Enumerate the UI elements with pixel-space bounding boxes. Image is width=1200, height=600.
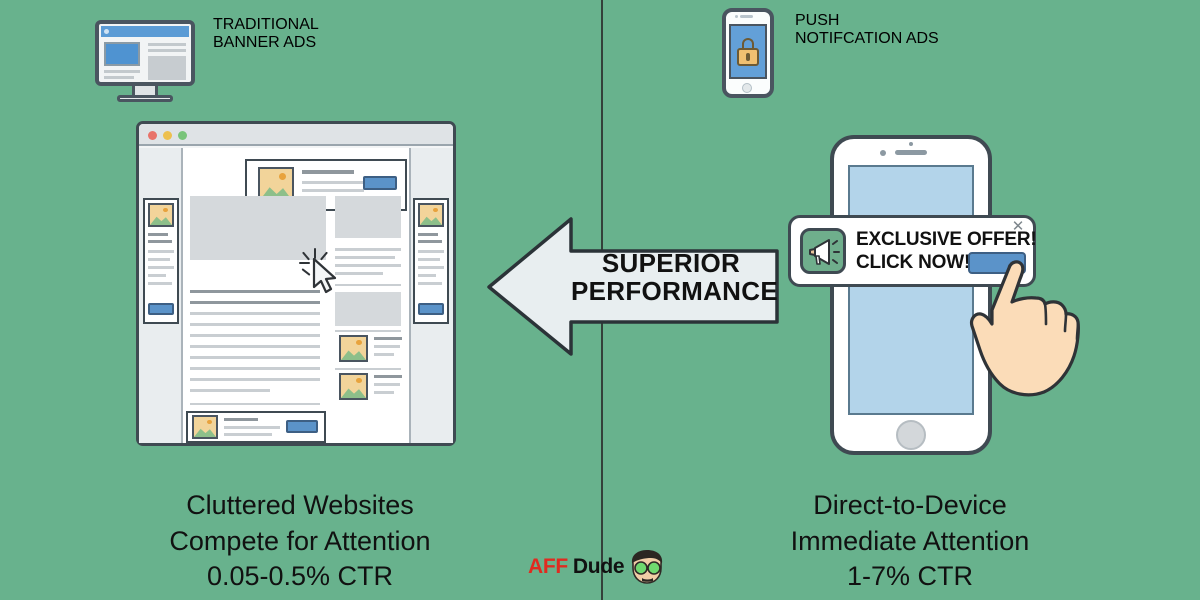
ad-text-line: [374, 375, 402, 378]
mouse-cursor-icon: [303, 248, 337, 288]
right-caption-line-2: Immediate Attention: [700, 524, 1120, 560]
left-caption-line-2: Compete for Attention: [90, 524, 510, 560]
left-caption-line-1: Cluttered Websites: [90, 488, 510, 524]
left-title-line-2: BANNER ADS: [213, 34, 543, 52]
phone-camera: [880, 150, 886, 156]
ad-text-line: [148, 282, 172, 285]
monitor-text-line: [104, 70, 140, 73]
ad-text-line: [148, 266, 174, 269]
phone-icon-home-button: [742, 83, 752, 93]
phone-icon-camera: [735, 15, 738, 18]
right-caption-line-1: Direct-to-Device: [700, 488, 1120, 524]
superior-performance-arrow: SUPERIOR PERFORMANCE: [487, 217, 779, 356]
ad-text-line: [148, 258, 170, 261]
ad-text-line: [302, 189, 364, 192]
article-text-line: [190, 312, 320, 315]
article-text-line: [190, 367, 320, 370]
monitor-text-line: [148, 43, 186, 46]
ad-text-line: [224, 433, 272, 436]
ad-text-line: [224, 426, 280, 429]
content-text-line: [335, 248, 401, 251]
browser-maximize-dot-icon[interactable]: [178, 131, 187, 140]
content-image-block: [335, 196, 401, 238]
notification-subtext: CLICK NOW!: [856, 252, 970, 274]
browser-close-dot-icon[interactable]: [148, 131, 157, 140]
article-text-line: [190, 323, 320, 326]
megaphone-icon: [800, 228, 846, 274]
ad-text-line: [418, 250, 444, 253]
ad-headline-line: [224, 418, 258, 421]
ad-text-line: [374, 337, 402, 340]
monitor-image-block: [104, 42, 140, 66]
arrow-label-line-1: SUPERIOR: [571, 249, 771, 277]
ad-text-line: [302, 181, 372, 184]
ad-text-line: [148, 240, 172, 243]
ad-thumbnail-icon: [192, 415, 218, 439]
left-title-line-1: TRADITIONAL: [213, 16, 543, 34]
avatar: [628, 550, 666, 584]
ad-text-line: [418, 266, 444, 269]
ad-thumbnail-icon: [418, 203, 444, 227]
ad-cta-button[interactable]: [418, 303, 444, 315]
monitor-gray-block: [148, 56, 186, 80]
phone-home-button[interactable]: [896, 420, 926, 450]
arrow-label-line-2: PERFORMANCE: [571, 277, 771, 305]
monitor-text-line: [104, 76, 134, 79]
article-text-line: [190, 334, 320, 337]
ad-cta-button[interactable]: [148, 303, 174, 315]
arrow-label: SUPERIOR PERFORMANCE: [571, 249, 771, 305]
monitor-browser-bar: [101, 26, 189, 37]
article-text-line: [190, 356, 320, 359]
ad-text-line: [148, 274, 166, 277]
lock-icon-keyhole: [746, 53, 750, 61]
affdude-logo[interactable]: AFF Dude: [528, 549, 666, 585]
content-divider-line: [335, 368, 401, 370]
monitor-stand-base: [117, 95, 173, 102]
ad-cta-button[interactable]: [286, 420, 318, 433]
left-caption-ctr: 0.05-0.5% CTR: [90, 559, 510, 595]
monitor-text-line: [148, 49, 186, 52]
monitor-browser-dot-icon: [104, 29, 109, 34]
ad-text-line: [418, 233, 438, 236]
ad-text-line: [418, 240, 442, 243]
browser-minimize-dot-icon[interactable]: [163, 131, 172, 140]
right-title-line-1: PUSH: [795, 12, 1155, 30]
article-text-line: [190, 301, 320, 304]
logo-text-aff: AFF: [528, 555, 568, 579]
ad-text-line: [374, 383, 400, 386]
ad-text-line: [418, 274, 436, 277]
phone-speaker: [895, 150, 927, 155]
article-text-line: [190, 345, 320, 348]
right-title-line-2: NOTIFCATION ADS: [795, 30, 1155, 48]
ad-text-line: [374, 391, 394, 394]
ad-text-line: [148, 250, 174, 253]
right-panel-title: PUSH NOTIFCATION ADS: [795, 12, 1155, 48]
ad-thumbnail-icon: [339, 335, 368, 362]
ad-text-line: [418, 258, 440, 261]
article-text-line: [190, 290, 320, 293]
content-divider-line: [190, 403, 320, 405]
ad-text-line: [148, 233, 168, 236]
left-panel-caption: Cluttered Websites Compete for Attention…: [90, 488, 510, 595]
ad-text-line: [374, 353, 394, 356]
right-panel-caption: Direct-to-Device Immediate Attention 1-7…: [700, 488, 1120, 595]
content-divider-line: [335, 330, 401, 332]
ad-text-line: [418, 282, 442, 285]
article-text-line: [190, 389, 270, 392]
ad-thumbnail-icon: [148, 203, 174, 227]
ad-headline-line: [302, 170, 354, 174]
phone-screen: [848, 165, 974, 415]
logo-text-dude: Dude: [573, 555, 624, 579]
article-text-line: [190, 378, 320, 381]
right-caption-ctr: 1-7% CTR: [700, 559, 1120, 595]
ad-thumbnail-icon: [339, 373, 368, 400]
phone-icon-speaker: [740, 15, 753, 18]
phone-sensor-dot: [909, 142, 913, 146]
infographic-canvas: TRADITIONAL BANNER ADS PUSH NOTIFCATION …: [0, 0, 1200, 600]
left-panel-title: TRADITIONAL BANNER ADS: [213, 16, 543, 52]
ad-text-line: [374, 345, 400, 348]
pointing-hand-icon: [962, 252, 1087, 400]
notification-headline: EXCLUSIVE OFFER!: [856, 229, 1036, 251]
ad-cta-button[interactable]: [363, 176, 397, 190]
